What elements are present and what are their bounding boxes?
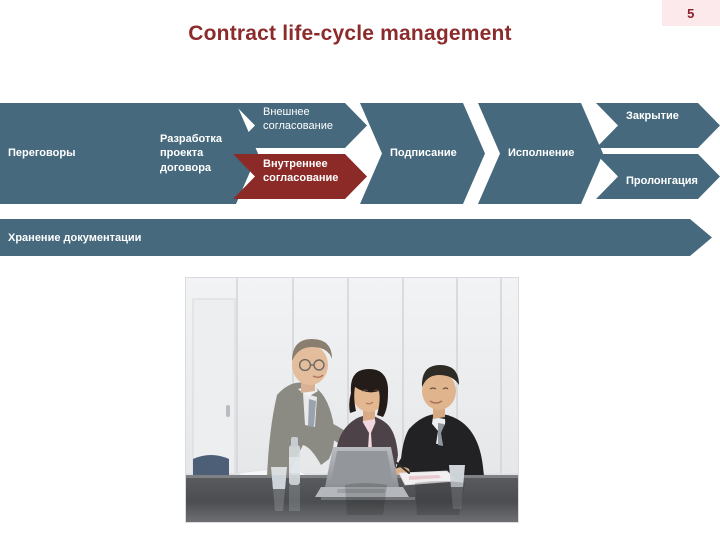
chevron-step-internal-approval[interactable]: Внутреннее согласование (233, 154, 367, 199)
presentation-slide: 5 Contract life-cycle management Перегов… (0, 0, 720, 540)
process-chevron-diagram: Переговоры Разработка проекта договора В… (0, 103, 720, 204)
chevron-step-execution[interactable]: Исполнение (478, 103, 603, 204)
page-title: Contract life-cycle management (0, 22, 700, 46)
chevron-step-closure[interactable]: Закрытие (596, 103, 720, 148)
chevron-step-negotiations[interactable]: Переговоры (0, 103, 158, 204)
chevron-step-external-approval[interactable]: Внешнее согласование (233, 103, 367, 148)
meeting-photo-graphic (185, 277, 519, 523)
chevron-step-label: Внутреннее согласование (233, 157, 346, 186)
chevron-step-prolongation[interactable]: Пролонгация (596, 154, 720, 199)
chevron-step-label: Исполнение (478, 146, 582, 160)
chevron-step-signing[interactable]: Подписание (360, 103, 485, 204)
meeting-photo (185, 277, 519, 523)
slide-number: 5 (687, 6, 695, 21)
chevron-step-label: Пролонгация (596, 174, 706, 188)
storage-bar[interactable]: Хранение документации (0, 219, 712, 256)
chevron-step-label: Внешнее согласование (233, 105, 341, 134)
chevron-step-label: Подписание (360, 146, 465, 160)
storage-bar-label: Хранение документации (0, 232, 141, 244)
chevron-step-label: Закрытие (596, 109, 687, 123)
chevron-step-label: Переговоры (0, 146, 83, 160)
